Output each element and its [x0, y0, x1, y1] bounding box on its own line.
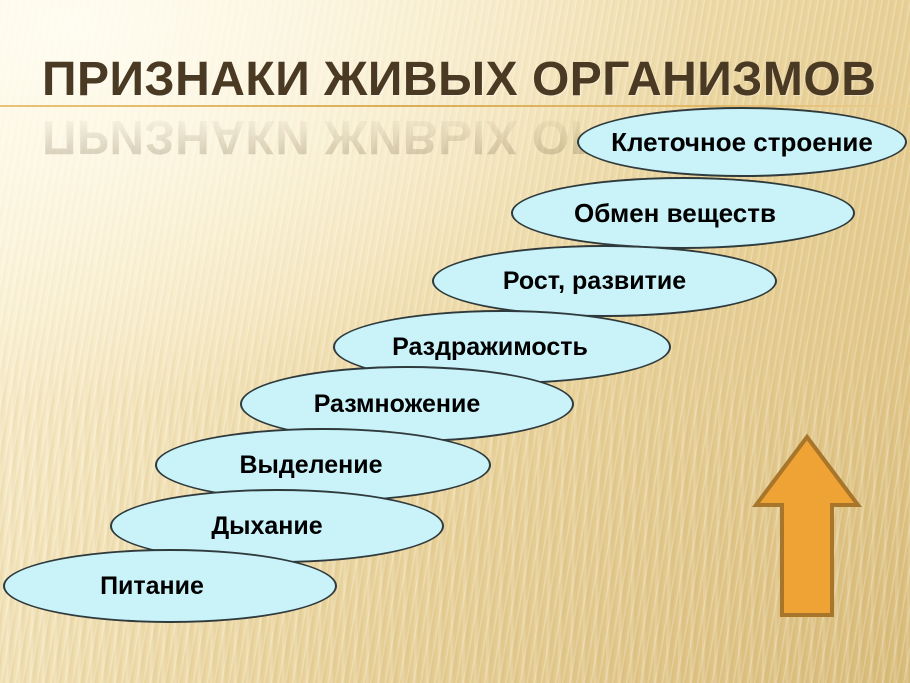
step-label: Выделение: [239, 451, 382, 480]
step-ellipse-growth-development[interactable]: Рост, развитие: [432, 245, 777, 317]
step-ellipse-cellular-structure[interactable]: Клеточное строение: [577, 107, 907, 177]
step-label: Клеточное строение: [611, 127, 873, 158]
step-label: Рост, развитие: [503, 267, 686, 296]
step-label: Обмен веществ: [574, 198, 776, 229]
up-arrow-icon: [752, 433, 862, 619]
step-ellipse-metabolism[interactable]: Обмен веществ: [511, 177, 855, 249]
step-label: Дыхание: [211, 512, 322, 541]
step-label: Раздражимость: [392, 333, 588, 362]
page-title: ПРИЗНАКИ ЖИВЫХ ОРГАНИЗМОВ: [42, 52, 876, 108]
step-ellipse-nutrition[interactable]: Питание: [3, 549, 337, 623]
slide-canvas: ПРИЗНАКИ ЖИВЫХ ОРГАНИЗМОВ ПРИЗНАКИ ЖИВЫХ…: [0, 0, 910, 683]
step-label: Размножение: [314, 390, 481, 419]
step-label: Питание: [100, 572, 204, 601]
